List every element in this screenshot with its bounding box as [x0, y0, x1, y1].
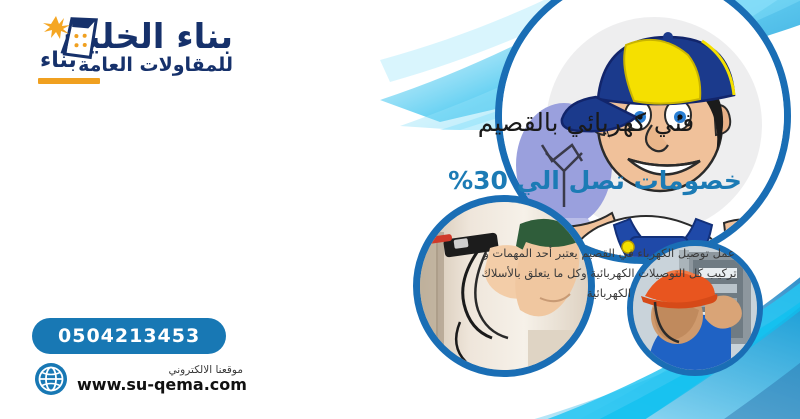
logo-spark-icon [43, 16, 70, 39]
brand-logo[interactable]: بناء الخليج للمقاولات العامة بناء [40, 18, 295, 96]
logo-underline-bar [38, 78, 100, 84]
banner-root: بناء الخليج للمقاولات العامة بناء فني كه… [0, 0, 800, 419]
website-row[interactable]: موقعنا الالكتروني www.su-qema.com [34, 362, 247, 396]
website-url[interactable]: www.su-qema.com [77, 376, 247, 394]
globe-icon [34, 362, 68, 396]
phone-number-badge[interactable]: 0504213453 [32, 318, 226, 354]
logo-building-icon [42, 14, 104, 60]
description-text: عمل توصيل الكهرباء في القصيم يعتبر أحد ا… [470, 243, 748, 303]
discount-headline: خصومات تصل الي 30% [420, 166, 770, 196]
page-title: فني كهربائي بالقصيم [416, 108, 756, 138]
